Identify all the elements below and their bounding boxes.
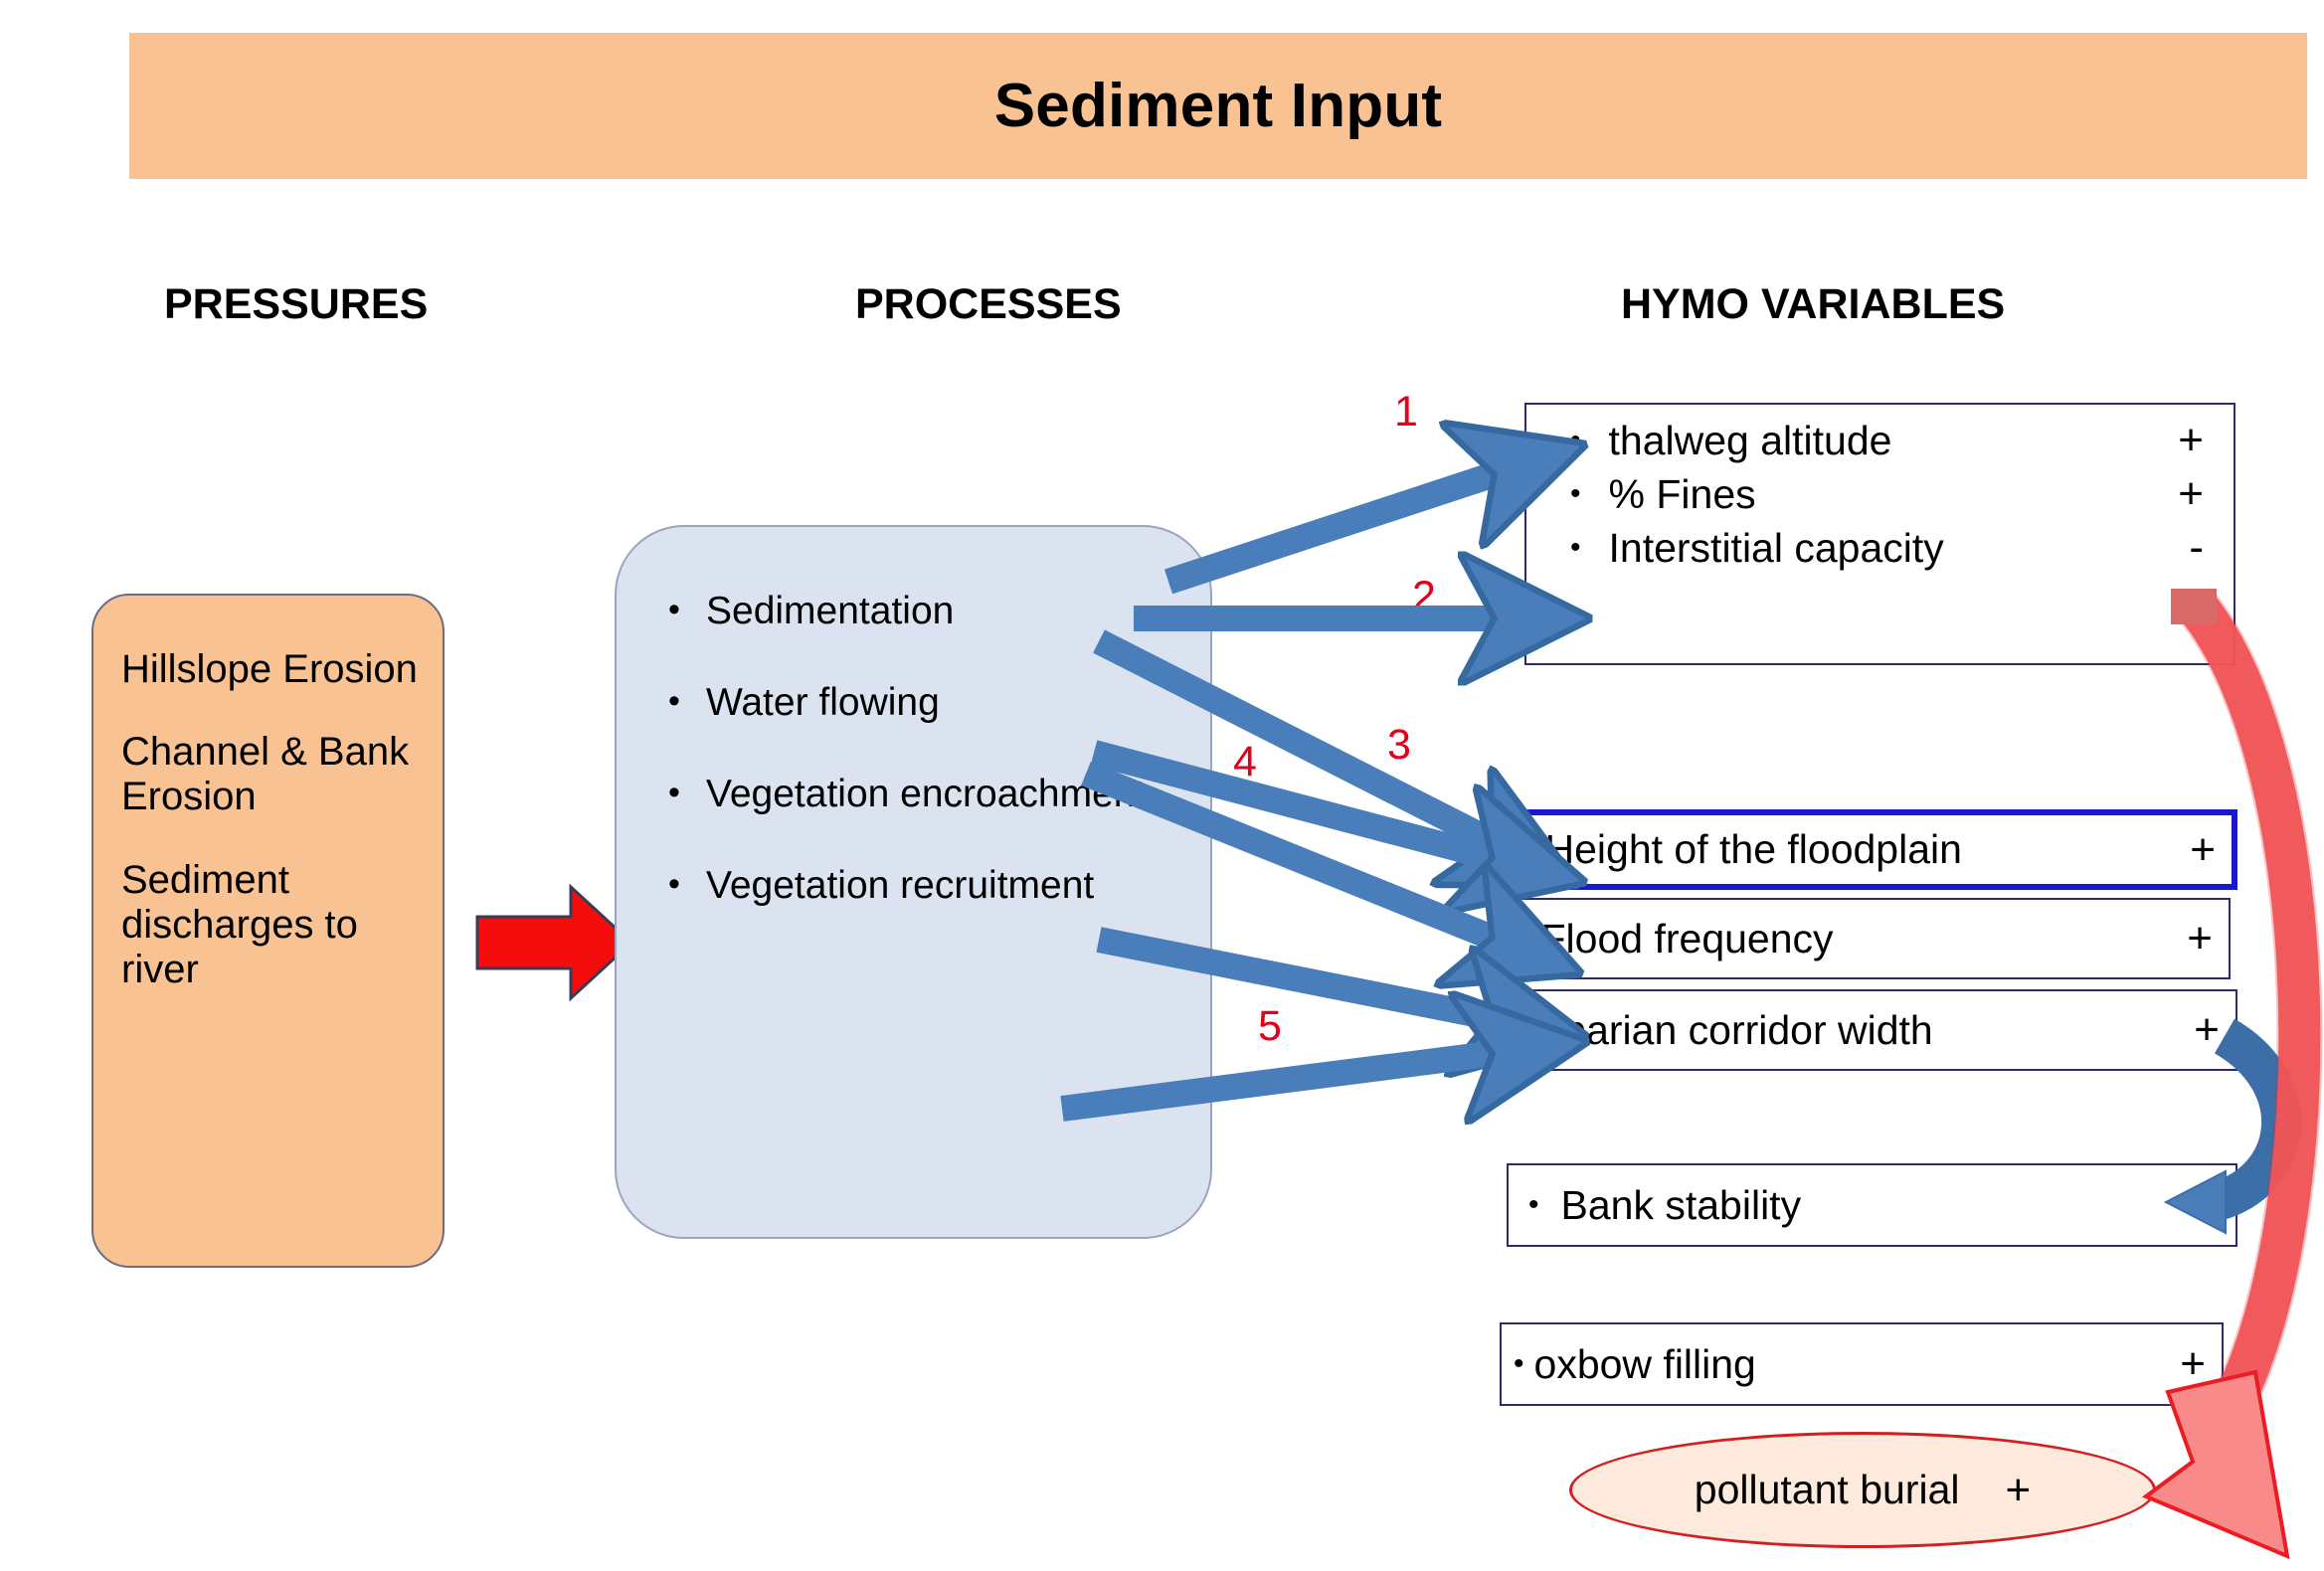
hymo-sign: + [2004,917,2213,960]
hymo-label: Interstitial capacity [1609,528,2134,569]
hymo-row-interstitial-capacity: • Interstitial capacity - [1552,526,2204,570]
process-item-vegetation-recruitment: • Vegetation recruitment [668,863,1180,909]
hymo-sign: + [1957,1342,2206,1386]
column-header-pressures: PRESSURES [164,280,428,329]
process-item-sedimentation: • Sedimentation [668,589,1180,634]
hymo-sign: - [2134,526,2204,570]
bullet-icon: • [1528,1190,1539,1220]
process-label: Vegetation encroachment [706,772,1180,817]
title-banner: Sediment Input [129,33,2307,179]
connector-number-5: 5 [1258,1002,1282,1051]
hymo-label: % Fines [1609,474,2134,515]
process-label: Vegetation recruitment [706,863,1180,909]
hymo-label: pollutant burial [1695,1470,1960,1510]
connector-number-1: 1 [1394,388,1418,436]
hymo-sign: + [2142,828,2216,872]
hymo-row-pollutant-burial: pollutant burial + [1695,1469,2031,1512]
connector-number-3: 3 [1387,721,1411,770]
bullet-icon: • [1520,924,1531,954]
hymo-box-riparian-corridor-width: • riparian corridor width + [1507,989,2237,1071]
hymo-label: Bank stability [1561,1185,2102,1226]
hymo-sign: + [2146,1008,2220,1052]
column-header-processes: PROCESSES [855,280,1122,329]
bullet-icon: • [668,589,706,631]
hymo-row-thalweg-altitude: • thalweg altitude + [1552,419,2204,462]
bullet-icon: • [1524,835,1535,865]
hymo-row-flood-frequency: • Flood frequency + [1520,917,2213,960]
bullet-icon: • [1514,1349,1524,1379]
process-item-water-flowing: • Water flowing [668,680,1180,726]
hymo-label: thalweg altitude [1609,421,2134,461]
hymo-row-bank-stability: • Bank stability + [1528,1183,2220,1227]
bullet-icon: • [1570,533,1581,563]
bullet-icon: • [668,680,706,723]
hymo-sign: + [2102,1183,2220,1227]
hymo-sign: + [2005,1469,2031,1512]
connector-number-2: 2 [1412,573,1436,621]
pressure-item-hillslope-erosion: Hillslope Erosion [121,647,419,692]
hymo-sign: + [2134,419,2204,462]
bullet-icon: • [1570,479,1581,509]
hymo-row-percent-fines: • % Fines + [1552,472,2204,516]
hymo-ellipse-pollutant-burial: pollutant burial + [1569,1432,2156,1548]
hymo-sign: + [2134,472,2204,516]
column-header-hymo-variables: HYMO VARIABLES [1621,280,2005,329]
hymo-label: riparian corridor width [1541,1010,2146,1051]
hymo-row-height-of-floodplain: • Height of the floodplain + [1524,828,2216,872]
arrow-1-sedimentation-to-thalweg [1168,475,1492,582]
bullet-icon: • [668,772,706,814]
hymo-box-height-of-floodplain: • Height of the floodplain + [1507,809,2237,890]
page-title: Sediment Input [994,71,1443,141]
bullet-icon: • [1570,426,1581,455]
processes-box: • Sedimentation • Water flowing • Vegeta… [615,525,1212,1239]
hymo-box-sediment-group: • thalweg altitude + • % Fines + • Inter… [1524,403,2235,665]
diagram-canvas: Sediment Input PRESSURES PROCESSES HYMO … [0,0,2324,1571]
process-item-vegetation-encroachment: • Vegetation encroachment [668,772,1180,817]
hymo-row-oxbow-filling: • oxbow filling + [1514,1342,2206,1386]
hymo-label: oxbow filling [1534,1344,1957,1385]
hymo-box-oxbow-filling: • oxbow filling + [1500,1322,2224,1406]
process-label: Sedimentation [706,589,1180,634]
hymo-box-bank-stability: • Bank stability + [1507,1163,2237,1247]
hymo-box-flood-frequency: • Flood frequency + [1507,898,2231,979]
hymo-row-riparian-corridor-width: • riparian corridor width + [1520,1008,2220,1052]
pressures-box: Hillslope Erosion Channel & Bank Erosion… [91,594,445,1268]
connector-number-4: 4 [1233,738,1257,786]
process-label: Water flowing [706,680,1180,726]
hymo-label: Flood frequency [1541,919,2004,960]
pressure-item-sediment-discharges: Sediment discharges to river [121,858,419,993]
pressure-item-channel-bank-erosion: Channel & Bank Erosion [121,730,419,819]
bullet-icon: • [1520,1015,1531,1045]
red-block-arrow-icon [475,883,634,1002]
hymo-label: Height of the floodplain [1545,829,2142,870]
bullet-icon: • [668,863,706,906]
